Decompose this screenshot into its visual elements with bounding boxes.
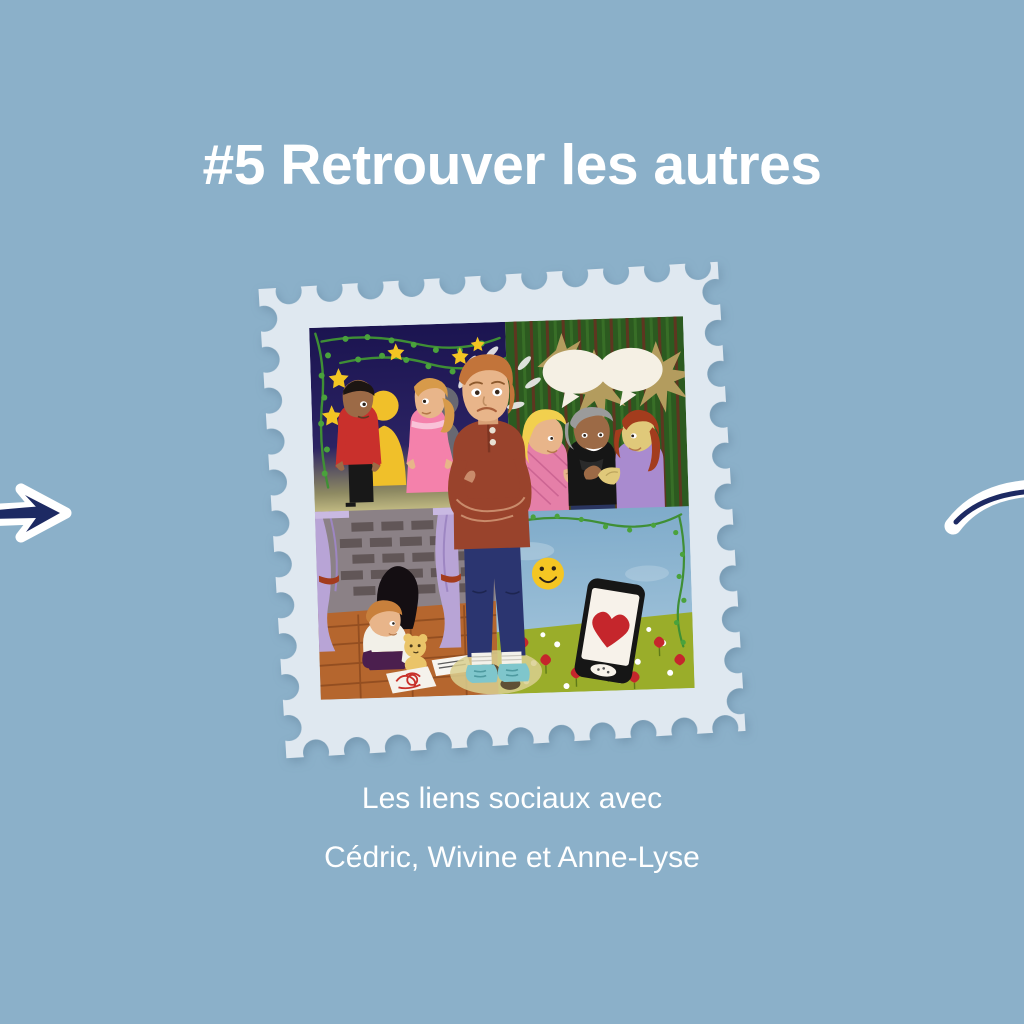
brush-curve-icon xyxy=(944,470,1024,550)
poster-canvas: #5 Retrouver les autres xyxy=(0,0,1024,1024)
caption-line-2: Cédric, Wivine et Anne-Lyse xyxy=(0,829,1024,888)
stamp-illustration xyxy=(258,262,745,758)
page-title: #5 Retrouver les autres xyxy=(0,134,1024,197)
caption-line-1: Les liens sociaux avec xyxy=(0,770,1024,829)
caption: Les liens sociaux avec Cédric, Wivine et… xyxy=(0,770,1024,887)
brush-arrow-right-icon xyxy=(0,462,86,552)
conversation-panel xyxy=(504,316,695,520)
stamp-artwork xyxy=(309,316,695,700)
